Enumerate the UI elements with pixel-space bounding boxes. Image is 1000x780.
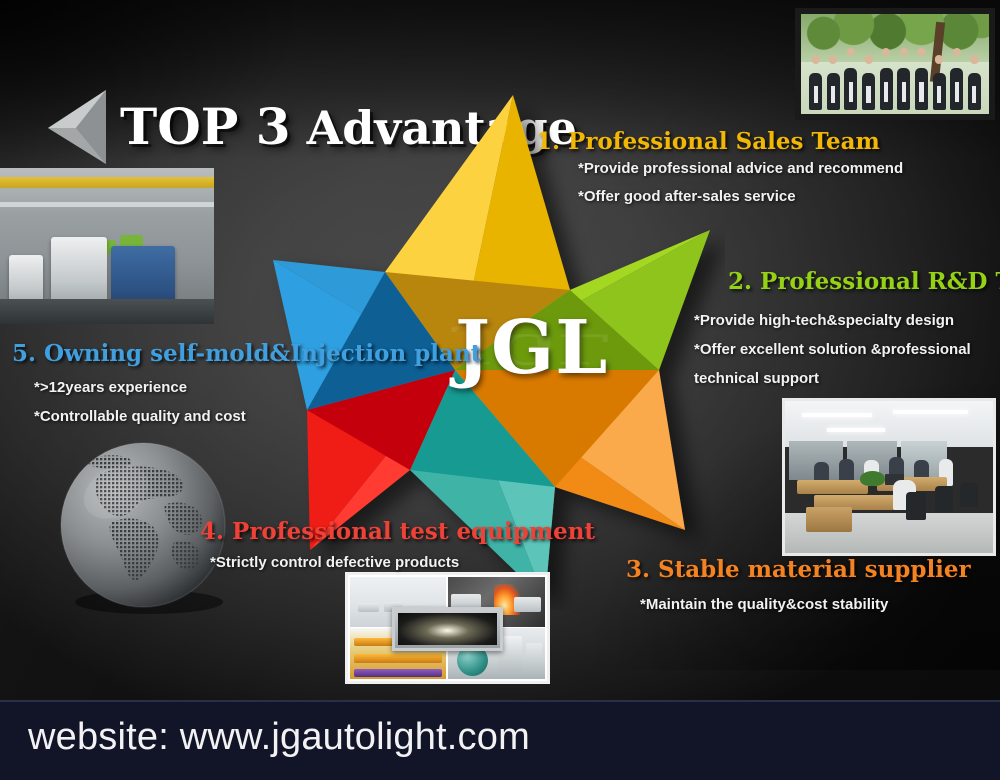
rd-office-photo	[782, 398, 996, 556]
advantage-4-heading: 4. Professional test equipment	[200, 518, 595, 545]
advantage-poster: TOP 3 Advantage	[0, 0, 1000, 780]
advantage-1-bullet-2: *Offer good after-sales service	[578, 188, 796, 205]
advantage-2-bullet-1: *Provide high-tech&specialty design	[694, 312, 954, 329]
test-equipment-photo	[345, 572, 550, 684]
advantage-2-bullet-2: *Offer excellent solution &professional	[694, 341, 971, 358]
footer-bar: website: www.jgautolight.com	[0, 700, 1000, 780]
advantage-5-bullet-2: *Controllable quality and cost	[34, 408, 246, 425]
advantage-3-bullet-1: *Maintain the quality&cost stability	[640, 596, 888, 613]
advantage-4-bullet-1: *Strictly control defective products	[210, 554, 459, 571]
website-label: website: www.jgautolight.com	[28, 716, 530, 759]
advantage-1-bullet-1: *Provide professional advice and recomme…	[578, 160, 903, 177]
advantage-5-heading: 5. Owning self-mold&Injection plant	[12, 340, 481, 367]
advantage-5-bullet-1: *>12years experience	[34, 379, 187, 396]
test-chamber-overlay	[392, 607, 503, 652]
sales-team-photo	[795, 8, 995, 120]
advantage-3-heading: 3. Stable material supplier	[626, 556, 971, 583]
advantage-2-heading: 2. Professional R&D Team	[728, 268, 1000, 295]
injection-plant-photo	[0, 168, 214, 324]
advantage-2-bullet-3: technical support	[694, 370, 819, 387]
advantage-1-heading: 1. Professional Sales Team	[536, 128, 880, 155]
triangle-left-icon	[46, 88, 108, 166]
